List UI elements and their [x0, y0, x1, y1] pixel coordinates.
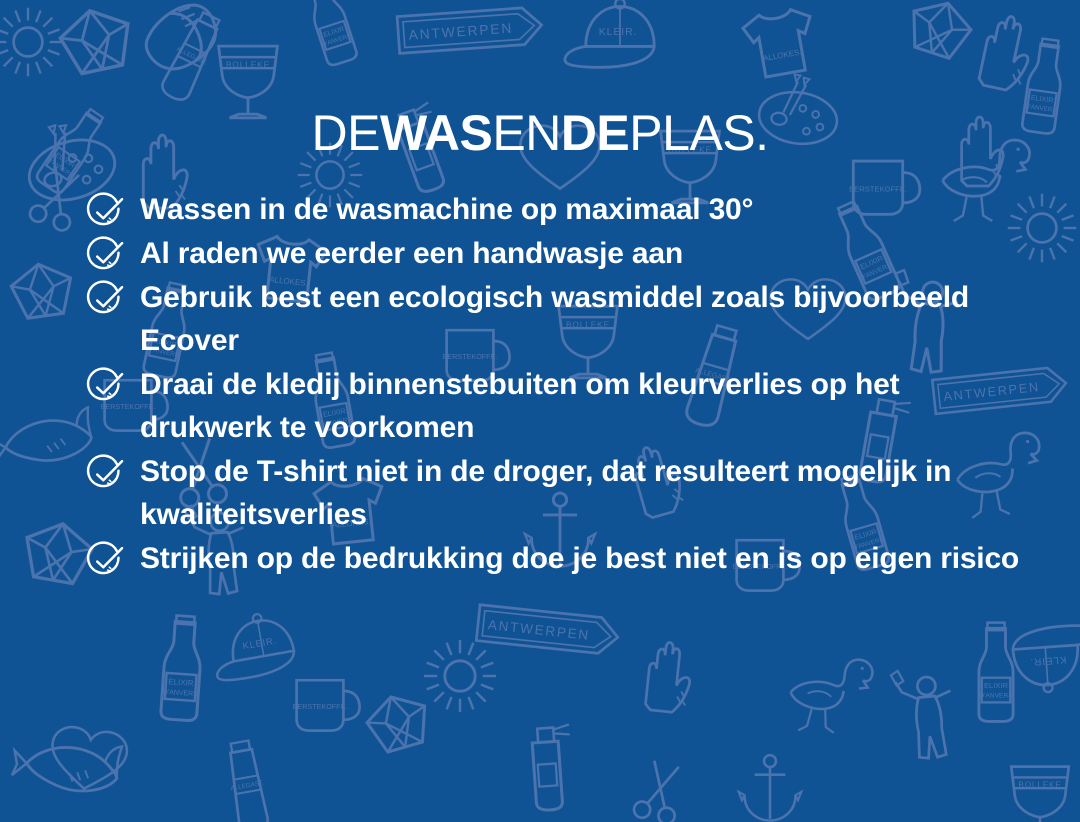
check-circle-icon	[86, 281, 124, 319]
poster-canvas: BOLLEKE ELIXIR D'ANVERS EERSTEKOFFE.	[0, 0, 1080, 822]
poster-content: DEWASENDEPLAS. Wassen in de wasmachine o…	[0, 0, 1080, 822]
list-item-text: Wassen in de wasmachine op maximaal 30°	[140, 188, 753, 231]
list-item: Al raden we eerder een handwasje aan	[86, 232, 1036, 275]
list-item: Draai de kledij binnenstebuiten om kleur…	[86, 363, 1036, 449]
list-item-text: Draai de kledij binnenstebuiten om kleur…	[140, 363, 1020, 449]
list-item: Wassen in de wasmachine op maximaal 30°	[86, 188, 1036, 231]
list-item: Gebruik best een ecologisch wasmiddel zo…	[86, 276, 1036, 362]
title-part-2: WAS	[380, 105, 492, 161]
title-part-4: DE	[561, 105, 629, 161]
check-circle-icon	[86, 193, 124, 231]
list-item-text: Gebruik best een ecologisch wasmiddel zo…	[140, 276, 1020, 362]
list-item: Stop de T-shirt niet in de droger, dat r…	[86, 450, 1036, 536]
care-instruction-list: Wassen in de wasmachine op maximaal 30° …	[86, 188, 1036, 581]
check-circle-icon	[86, 542, 124, 580]
check-circle-icon	[86, 368, 124, 406]
title-part-3: EN	[492, 105, 560, 161]
list-item-text: Stop de T-shirt niet in de droger, dat r…	[140, 450, 1020, 536]
list-item-text: Al raden we eerder een handwasje aan	[140, 232, 683, 275]
list-item-text: Strijken op de bedrukking doe je best ni…	[140, 537, 1019, 580]
title-part-1: DE	[311, 105, 379, 161]
page-title: DEWASENDEPLAS.	[0, 108, 1080, 158]
list-item: Strijken op de bedrukking doe je best ni…	[86, 537, 1036, 580]
title-part-5: PLAS.	[629, 105, 768, 161]
check-circle-icon	[86, 455, 124, 493]
check-circle-icon	[86, 237, 124, 275]
